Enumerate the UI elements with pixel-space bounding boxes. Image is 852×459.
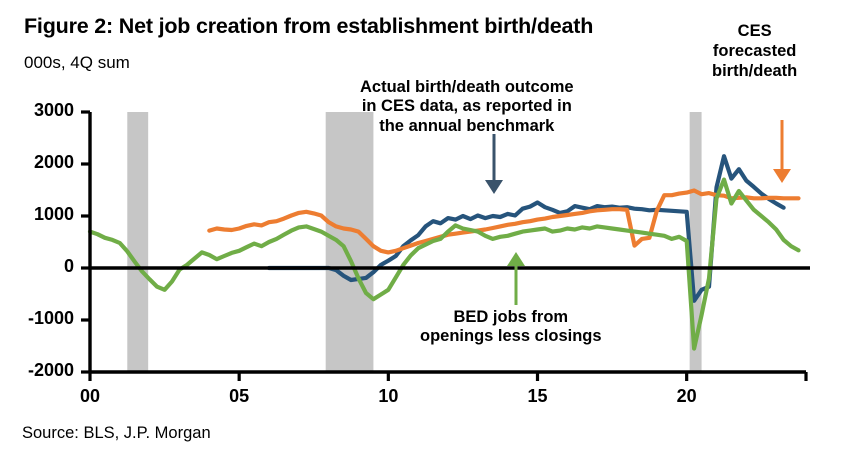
x-axis-tick-label: 00 [60, 386, 120, 407]
annotation-bed-arrow-head [507, 252, 525, 266]
figure-container: Figure 2: Net job creation from establis… [0, 0, 852, 459]
annotation-bed-line1: BED jobs from [420, 308, 602, 327]
annotation-ces-forecast-arrow-head [773, 169, 791, 183]
annotation-ces-forecast-line1: CES [712, 22, 797, 42]
x-axis-tick-label: 20 [657, 386, 717, 407]
annotation-bed: BED jobs from openings less closings [420, 308, 602, 347]
y-axis-tick-label: -2000 [0, 360, 74, 381]
annotation-ces-actual-arrow-head [485, 180, 503, 194]
series-line-orange [209, 191, 798, 253]
y-axis-tick-label: 2000 [0, 152, 74, 173]
annotation-ces-forecast: CES forecasted birth/death [712, 22, 797, 81]
source-note: Source: BLS, J.P. Morgan [22, 424, 211, 443]
annotation-ces-actual-line2: in CES data, as reported in [360, 97, 574, 116]
x-axis-tick-label: 05 [209, 386, 269, 407]
annotation-ces-actual: Actual birth/death outcome in CES data, … [360, 78, 574, 136]
y-axis-tick-label: 3000 [0, 100, 74, 121]
y-axis-tick-label: 1000 [0, 204, 74, 225]
x-axis-tick-label: 15 [508, 386, 568, 407]
annotation-bed-line2: openings less closings [420, 327, 602, 346]
annotation-ces-actual-line1: Actual birth/death outcome [360, 78, 574, 97]
annotation-ces-actual-line3: the annual benchmark [360, 117, 574, 136]
annotation-ces-forecast-line3: birth/death [712, 62, 797, 82]
y-axis-tick-label: -1000 [0, 308, 74, 329]
recession-band [127, 112, 148, 372]
x-axis-tick-label: 10 [358, 386, 418, 407]
annotation-ces-forecast-line2: forecasted [712, 42, 797, 62]
y-axis-tick-label: 0 [0, 256, 74, 277]
